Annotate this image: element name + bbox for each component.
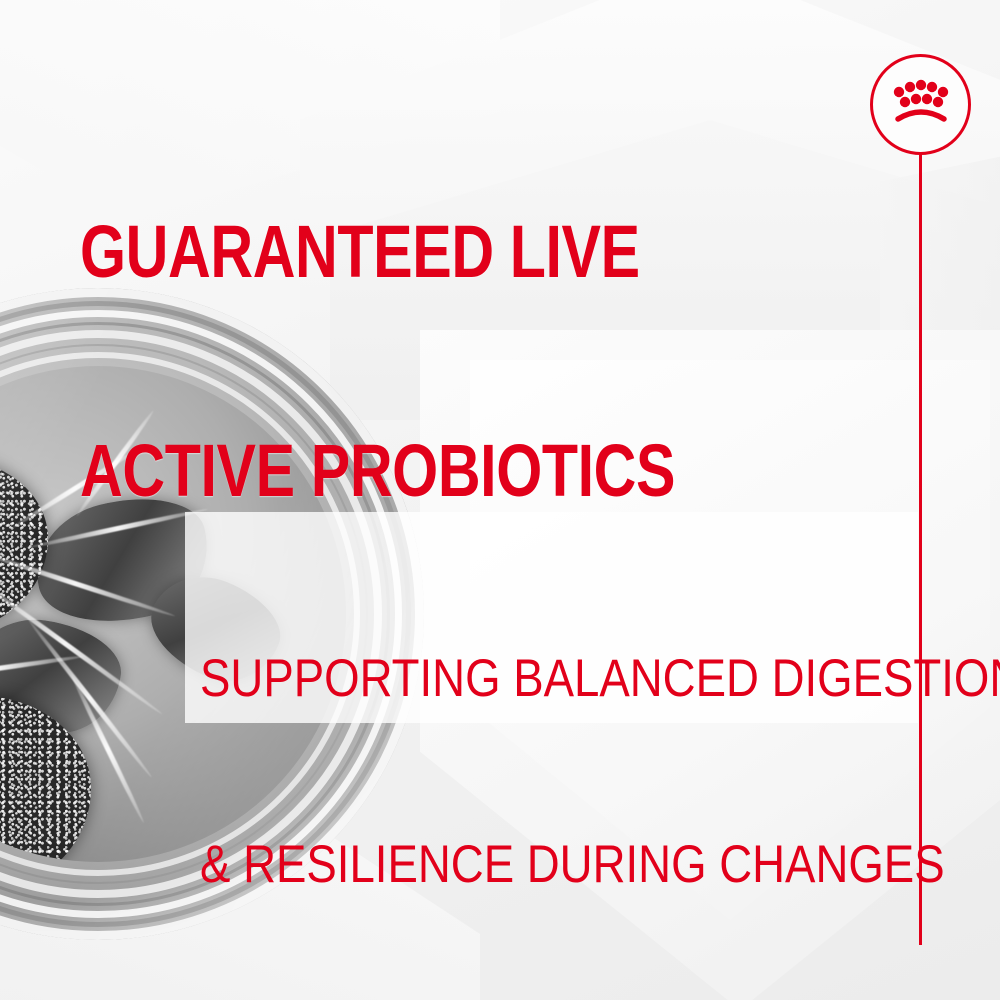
royal-canin-crown-icon	[873, 57, 968, 152]
headline-line-2: ACTIVE PROBIOTICS	[80, 434, 675, 507]
subheading-line-1: SUPPORTING BALANCED DIGESTION	[200, 648, 854, 710]
brand-badge-stem-line	[919, 152, 922, 945]
subheading: SUPPORTING BALANCED DIGESTION & RESILIEN…	[200, 524, 854, 1000]
headline-line-1: GUARANTEED LIVE	[80, 215, 675, 288]
subheading-line-2: & RESILIENCE DURING CHANGES	[200, 834, 854, 896]
brand-badge-circle-icon	[870, 54, 971, 155]
promo-banner: GUARANTEED LIVE ACTIVE PROBIOTICS SUPPOR…	[0, 0, 1000, 1000]
